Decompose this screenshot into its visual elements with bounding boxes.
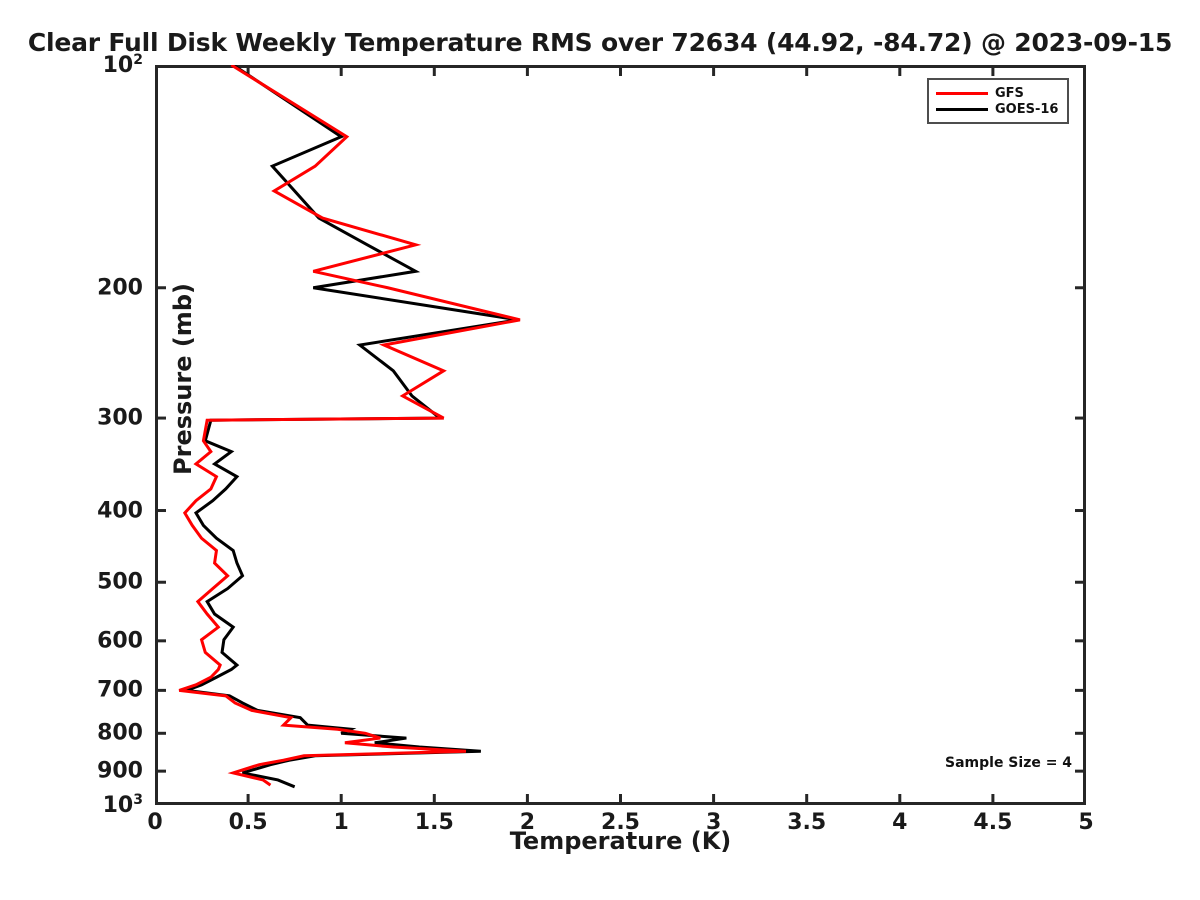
x-tick-label: 3	[706, 810, 721, 835]
y-tick-label: 700	[97, 678, 143, 703]
legend-swatch-icon	[936, 108, 988, 111]
x-tick-label: 5	[1078, 810, 1093, 835]
x-tick-label: 1	[334, 810, 349, 835]
figure-canvas: Clear Full Disk Weekly Temperature RMS o…	[0, 0, 1200, 900]
y-tick-label: 300	[97, 406, 143, 431]
x-tick-label: 3.5	[787, 810, 826, 835]
legend-swatch-icon	[936, 92, 988, 95]
sample-size-annotation: Sample Size = 4	[945, 755, 1072, 771]
page-title: Clear Full Disk Weekly Temperature RMS o…	[0, 28, 1200, 57]
y-tick-label: 800	[97, 721, 143, 746]
legend-item[interactable]: GOES-16	[936, 101, 1058, 117]
y-tick-label: 600	[97, 628, 143, 653]
x-tick-label: 0.5	[229, 810, 268, 835]
legend: GFSGOES-16	[927, 78, 1069, 124]
x-tick-label: 4	[892, 810, 907, 835]
tick-marks	[155, 65, 1086, 805]
x-tick-label: 0	[147, 810, 162, 835]
legend-item[interactable]: GFS	[936, 85, 1058, 101]
x-tick-label: 2.5	[601, 810, 640, 835]
legend-label: GFS	[995, 87, 1024, 100]
y-axis-label: Pressure (mb)	[169, 259, 197, 499]
y-tick-label: 900	[97, 759, 143, 784]
y-tick-label: 500	[97, 570, 143, 595]
x-tick-label: 4.5	[973, 810, 1012, 835]
y-tick-label: 103	[103, 792, 143, 818]
y-tick-label: 200	[97, 275, 143, 300]
y-tick-label: 400	[97, 498, 143, 523]
legend-label: GOES-16	[995, 103, 1058, 116]
x-tick-label: 1.5	[415, 810, 454, 835]
series-line-goes-16	[187, 65, 518, 787]
series-line-gfs	[179, 65, 520, 785]
series-lines	[179, 65, 520, 787]
plot-area: Pressure (mb) Temperature (K) 00.511.522…	[155, 65, 1086, 805]
plot-svg	[155, 65, 1086, 805]
x-tick-label: 2	[520, 810, 535, 835]
y-tick-label: 102	[103, 52, 143, 78]
